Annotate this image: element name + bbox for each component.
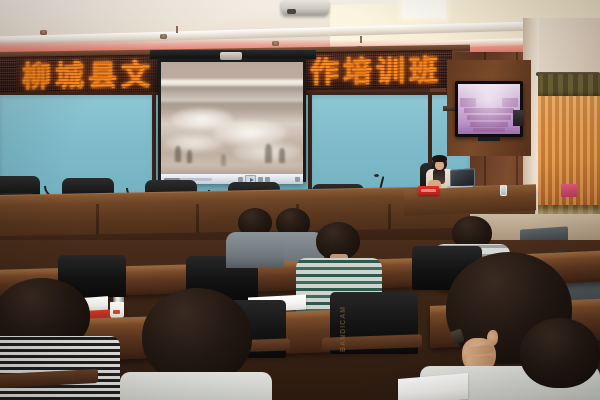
fullscreen-icon[interactable] — [295, 177, 300, 182]
projection-screen — [158, 58, 306, 182]
tv-screen-glare — [458, 84, 520, 134]
drinking-glass — [500, 185, 507, 196]
microphone-head — [374, 174, 379, 177]
conference-room-photo: 柳城县文 作培训班 — [0, 0, 600, 400]
volume-icon[interactable] — [265, 177, 270, 182]
ceiling-projector — [281, 0, 329, 15]
audience-torso — [120, 372, 272, 400]
sprinkler-head — [40, 30, 47, 35]
desk-flag — [561, 184, 577, 197]
presenter-face — [435, 161, 444, 170]
projected-tree — [175, 146, 181, 162]
projected-cloud — [165, 134, 223, 152]
previous-icon[interactable] — [238, 177, 243, 182]
audience-torso — [0, 336, 120, 400]
panel-divider — [308, 92, 312, 196]
projected-ridge — [161, 86, 303, 102]
sprinkler-stem — [176, 26, 178, 33]
projected-tree — [265, 144, 272, 163]
screen-pull-tab — [220, 52, 242, 60]
sprinkler-head — [160, 34, 167, 39]
finger — [466, 355, 495, 366]
led-banner-text-left: 柳城县文 — [22, 57, 154, 95]
projected-tree — [221, 154, 226, 166]
led-banner-text-right: 作培训班 — [310, 52, 442, 90]
tv-screen — [458, 84, 520, 134]
bandicam-watermark: BANDICAM — [340, 306, 347, 352]
sprinkler-head — [272, 41, 279, 46]
curtain-valance — [538, 74, 600, 97]
tv-stand — [478, 137, 500, 141]
wall-mounted-tv — [455, 81, 523, 137]
audience-torso — [226, 232, 284, 268]
projection-screen-image — [161, 62, 303, 174]
presenter-laptop-screen — [450, 168, 475, 188]
ceiling-panel-light — [402, 0, 446, 18]
projected-tree — [279, 148, 285, 163]
window-curtain — [538, 96, 600, 216]
paper-cup — [110, 302, 124, 318]
next-icon[interactable] — [258, 177, 263, 182]
audience-head — [520, 318, 600, 388]
presenter-nameplate — [418, 186, 439, 195]
audience-head — [142, 288, 252, 384]
projected-tree — [187, 150, 192, 163]
sprinkler-stem — [360, 36, 362, 43]
presenter-hair — [432, 155, 447, 162]
wall-speaker — [513, 110, 524, 126]
